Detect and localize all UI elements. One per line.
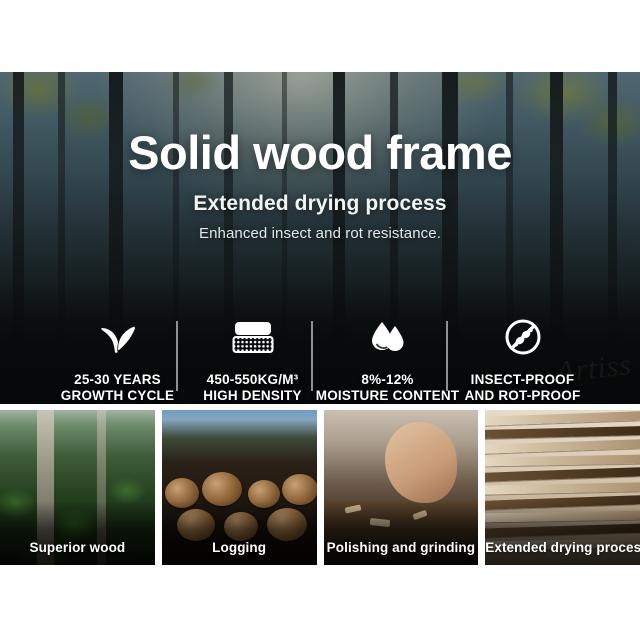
feature-growth-cycle-line2: GROWTH CYCLE	[61, 388, 174, 403]
thumbnail-superior-wood-label: Superior wood	[0, 540, 155, 555]
feature-insect-rot-proof: INSECT-PROOF AND ROT-PROOF	[455, 315, 590, 403]
feature-moisture-content-line2: MOISTURE CONTENT	[316, 388, 459, 403]
density-block-icon	[232, 315, 274, 359]
thumbnail-extended-drying-label: Extended drying process	[485, 540, 640, 555]
feature-high-density-line1: 450-550KG/M³	[207, 372, 299, 387]
feature-growth-cycle-line1: 25-30 YEARS	[74, 372, 161, 387]
thumbnail-polishing-grinding-label: Polishing and grinding	[324, 540, 479, 555]
thumbnail-polishing-grinding-scrim	[324, 501, 479, 565]
feature-insect-rot-proof-line1: INSECT-PROOF	[471, 372, 575, 387]
hero-subtitle: Extended drying process	[0, 192, 640, 216]
thumbnail-logging[interactable]: Logging	[162, 410, 317, 565]
hero-title: Solid wood frame	[0, 129, 640, 176]
no-insect-icon	[504, 315, 542, 359]
product-infographic: Artiss Solid wood frame Extended drying …	[0, 0, 640, 640]
hero-copy-block: Solid wood frame Extended drying process…	[0, 72, 640, 242]
thumbnail-extended-drying[interactable]: Extended drying process	[485, 410, 640, 565]
feature-growth-cycle: 25-30 YEARS GROWTH CYCLE	[50, 315, 185, 403]
feature-moisture-content: 8%-12% MOISTURE CONTENT	[320, 315, 455, 403]
feature-strip: 25-30 YEARS GROWTH CYCLE	[0, 315, 640, 404]
feature-high-density-line2: HIGH DENSITY	[203, 388, 301, 403]
process-thumbnail-row: Superior wood Logging	[0, 410, 640, 565]
feature-insect-rot-proof-line2: AND ROT-PROOF	[465, 388, 581, 403]
thumbnail-superior-wood[interactable]: Superior wood	[0, 410, 155, 565]
thumbnail-extended-drying-scrim	[485, 501, 640, 565]
feature-moisture-content-line1: 8%-12%	[361, 372, 413, 387]
leaf-sprout-icon	[98, 315, 138, 359]
hero-banner: Artiss Solid wood frame Extended drying …	[0, 72, 640, 404]
feature-high-density: 450-550KG/M³ HIGH DENSITY	[185, 315, 320, 403]
hero-note: Enhanced insect and rot resistance.	[0, 225, 640, 242]
water-droplets-icon	[368, 315, 408, 359]
thumbnail-polishing-grinding[interactable]: Polishing and grinding	[324, 410, 479, 565]
thumbnail-logging-label: Logging	[162, 540, 317, 555]
thumbnail-logging-scrim	[162, 501, 317, 565]
thumbnail-superior-wood-scrim	[0, 501, 155, 565]
